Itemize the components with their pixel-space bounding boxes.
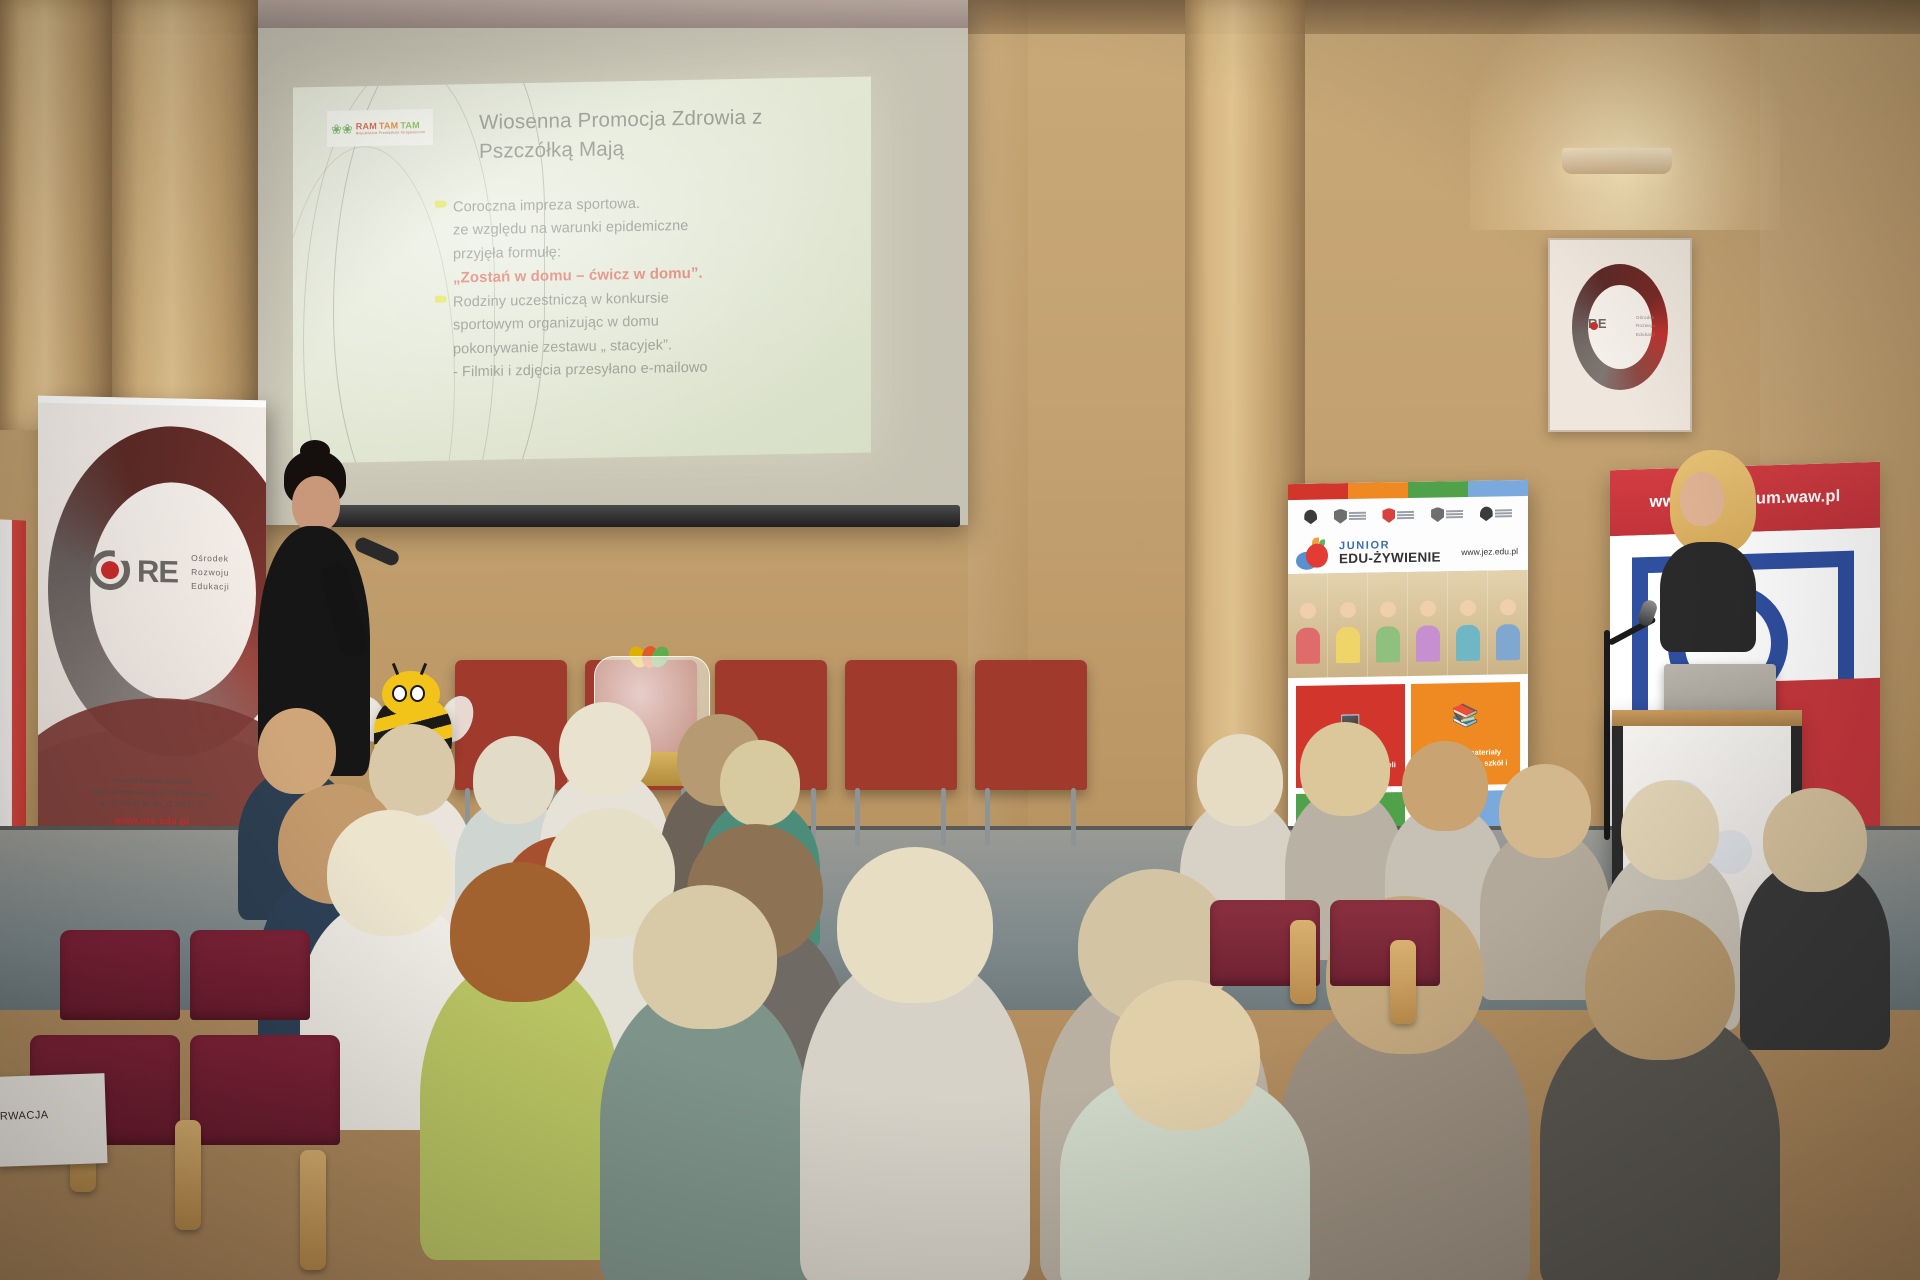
ramtamtam-logo: ❀❀ RAM TAM TAM Niepubliczne Przedszkole … [327, 109, 433, 147]
stage-chair-5 [975, 660, 1087, 790]
wall-light-glow [1470, 0, 1780, 230]
jez-logo-line-2: EDU-ŻYWIENIE [1339, 551, 1441, 568]
auditorium-seat [190, 930, 310, 1020]
books-icon: 📚 [1452, 683, 1479, 749]
slide-bullet-text: Rodziny uczestniczą w konkursie [453, 290, 669, 310]
jez-children-photo [1288, 570, 1528, 678]
ministry-logo-1 [1304, 509, 1317, 524]
ore-o-mark-icon [90, 550, 130, 591]
seat-armrest [175, 1120, 201, 1230]
handheld-microphone-icon [353, 535, 401, 567]
presentation-slide: ❀❀ RAM TAM TAM Niepubliczne Przedszkole … [293, 76, 871, 463]
leaf-icon: ❀❀ [331, 122, 353, 135]
slide-bullet-text: - Filmiki i zdjęcia przesyłano e-mailowo [453, 360, 708, 381]
ore-logo: RE Ośrodek Rozwoju Edukacji [90, 549, 230, 594]
audience-member [1740, 860, 1890, 1050]
ore-plaque-word-1: Ośrodek [1636, 314, 1655, 322]
seat-armrest [1390, 940, 1416, 1024]
wall-sconce-lamp [1562, 148, 1672, 174]
ore-plaque-words: Ośrodek Rozwoju Edukacji [1636, 314, 1655, 339]
projection-screen-housing [258, 0, 968, 28]
leaflet-text: RWACJA [0, 1073, 106, 1123]
seat-row-mid [60, 930, 310, 1020]
conference-hall-photo: RE Ośrodek Rozwoju Edukacji ❀❀ RAM TAM T… [0, 0, 1920, 1280]
ore-plaque-word-2: Rozwoju [1636, 322, 1655, 330]
ministry-logo-4 [1431, 507, 1463, 523]
jez-ministry-logos [1288, 496, 1528, 534]
ore-wall-plaque: RE Ośrodek Rozwoju Edukacji [1548, 238, 1692, 432]
wall-pillar-left [0, 0, 112, 430]
ore-word-1: Ośrodek [191, 551, 230, 566]
ministry-logo-3 [1382, 507, 1414, 523]
slide-title: Wiosenna Promocja Zdrowia z Pszczółką Ma… [479, 101, 839, 166]
slide-bullet-text: przyjęła formułę: [453, 244, 561, 262]
podium-speaker [1650, 450, 1770, 660]
jez-website-url: www.jez.edu.pl [1461, 546, 1518, 557]
slide-bullet-text: sportowym organizując w domu [453, 314, 659, 334]
seat-armrest [1290, 920, 1316, 1004]
ore-rollup-banner: RE Ośrodek Rozwoju Edukacji Ośrodek Rozw… [38, 396, 266, 871]
ore-address-block: Ośrodek Rozwoju Edukacji Aleje Ujazdowsk… [38, 774, 266, 813]
audience-member-front [800, 955, 1030, 1280]
bullet-marker-icon [435, 201, 447, 208]
audience-member-front [1280, 1000, 1530, 1280]
slide-bullet-text: Coroczna impreza sportowa. [453, 196, 640, 216]
auditorium-seat [190, 1035, 340, 1145]
slide-bullet-text: „Zostań w domu – ćwicz w domu”. [453, 265, 703, 287]
jez-logo: JUNIOR EDU-ŻYWIENIE [1296, 535, 1441, 572]
slide-bullet-text: pokonywanie zestawu „ stacyjek”. [453, 337, 672, 357]
slide-bullet-text: ze względu na warunki epidemiczne [453, 218, 688, 239]
ore-plaque-dot-icon [1590, 322, 1598, 330]
audience-member-front [1540, 1010, 1780, 1280]
ore-plaque-word-3: Edukacji [1636, 331, 1655, 339]
ramtamtam-word-1: RAM [356, 121, 377, 131]
ore-logo-letters: RE [137, 555, 178, 587]
audience-member-front [1060, 1070, 1310, 1280]
ministry-logo-5 [1480, 506, 1512, 522]
apple-icon [1296, 537, 1334, 572]
audience-member-front [420, 960, 620, 1260]
information-leaflet: RWACJA [0, 1073, 108, 1167]
stage-chair-4 [845, 660, 957, 790]
microphone-stand [1604, 630, 1610, 840]
auditorium-seat [60, 930, 180, 1020]
ramtamtam-word-2: TAM [379, 121, 398, 131]
ore-word-2: Rozwoju [191, 565, 230, 580]
jez-logo-row: JUNIOR EDU-ŻYWIENIE www.jez.edu.pl [1288, 530, 1528, 574]
slide-bullet-list: Coroczna impreza sportowa. ze względu na… [453, 189, 853, 385]
ministry-logo-2 [1334, 508, 1366, 524]
ramtamtam-word-3: TAM [400, 120, 419, 130]
auditorium-seat [1330, 900, 1440, 986]
ore-logo-words: Ośrodek Rozwoju Edukacji [191, 551, 230, 594]
seat-armrest [300, 1150, 326, 1270]
ramtamtam-subtitle: Niepubliczne Przedszkole Terapeutyczne [356, 130, 425, 135]
audience-member-front [600, 985, 810, 1280]
bullet-marker-icon [435, 295, 447, 302]
ore-word-3: Edukacji [191, 579, 230, 594]
